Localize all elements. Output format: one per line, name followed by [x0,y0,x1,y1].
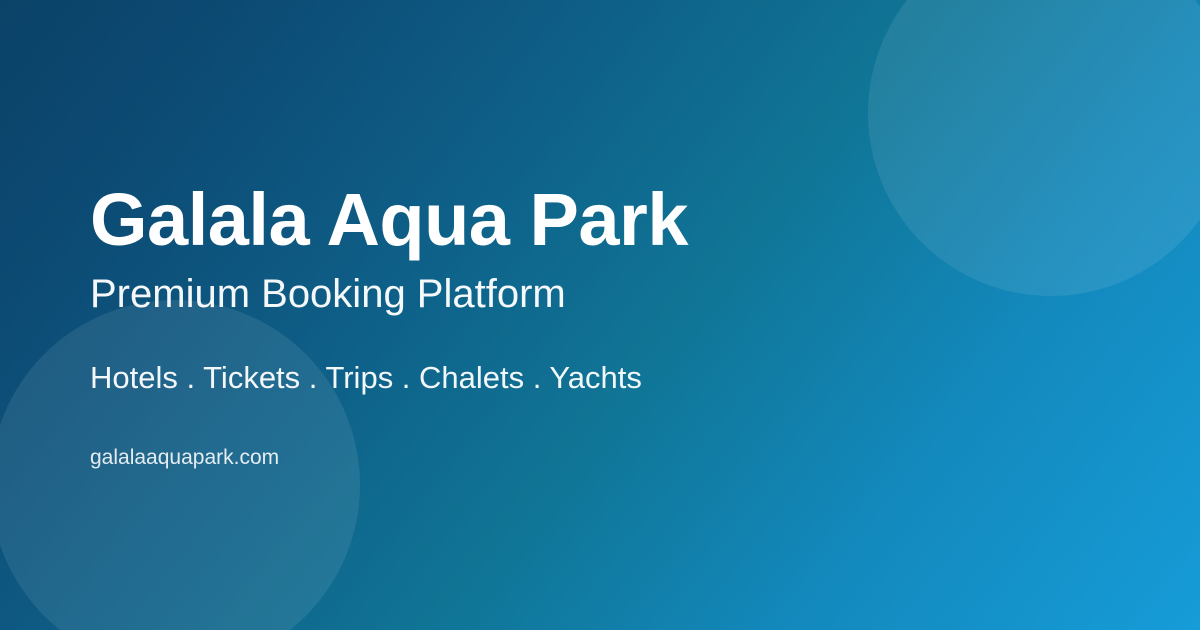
site-url: galalaaquapark.com [90,447,279,468]
og-card-canvas: Galala Aqua Park Premium Booking Platfor… [0,0,1200,630]
page-subtitle: Premium Booking Platform [90,274,566,314]
card-content: Galala Aqua Park Premium Booking Platfor… [90,0,990,630]
services-list: Hotels . Tickets . Trips . Chalets . Yac… [90,362,642,393]
page-title: Galala Aqua Park [90,183,688,257]
